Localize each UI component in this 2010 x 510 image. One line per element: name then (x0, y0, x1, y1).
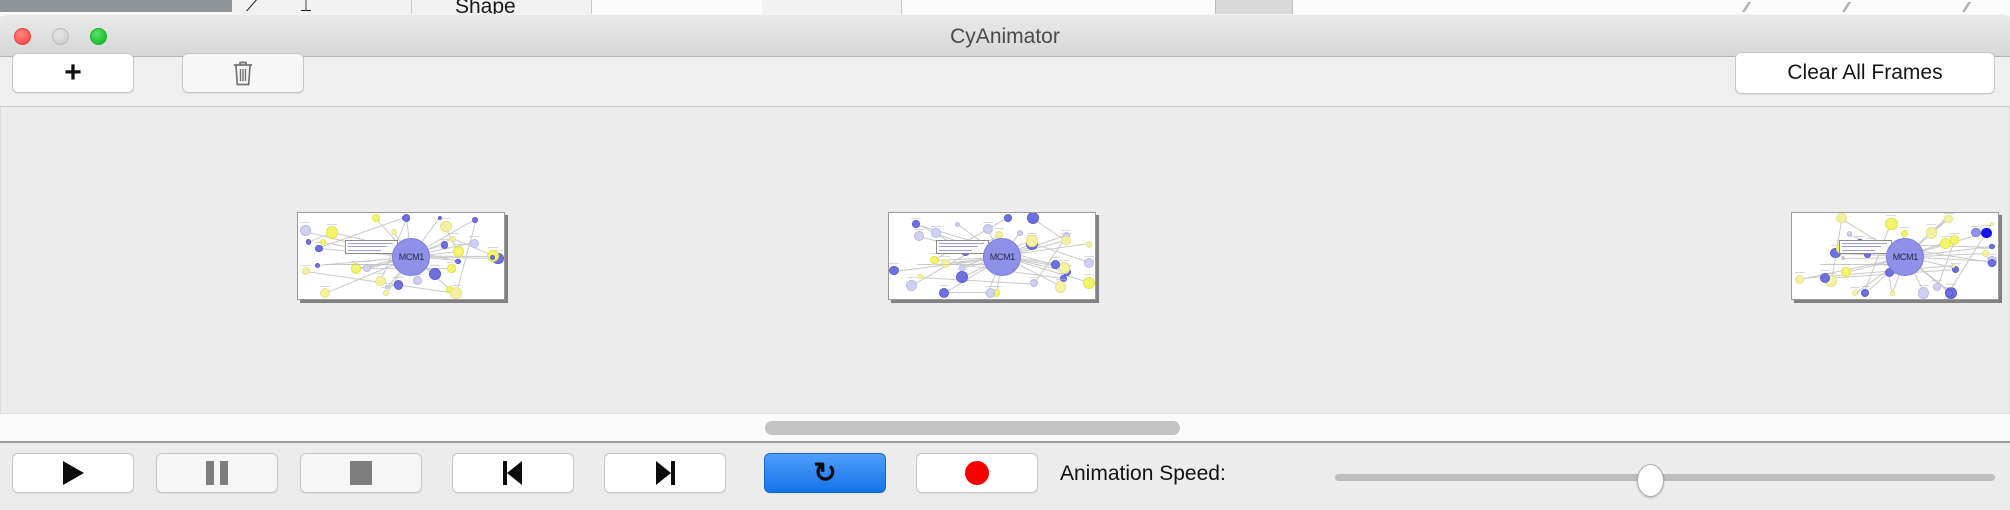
network-node (1061, 236, 1071, 246)
network-node-label (1971, 226, 1981, 227)
network-node-label (1981, 225, 1991, 226)
network-node-label (983, 222, 993, 223)
network-annotation-line (348, 250, 381, 251)
network-node (470, 239, 479, 248)
network-node (1945, 289, 1953, 297)
network-node (449, 236, 455, 242)
network-annotation-line (348, 246, 387, 247)
network-node (1017, 230, 1023, 236)
background-tick (1962, 2, 1980, 12)
network-annotation-line (1842, 250, 1875, 251)
network-node (472, 217, 478, 223)
network-node-label (1932, 280, 1942, 281)
next-frame-button[interactable] (604, 453, 726, 493)
network-node-label (1084, 256, 1094, 257)
network-node-label (301, 265, 311, 266)
network-hub-node: MCM1 (1886, 238, 1924, 276)
network-node-label (939, 285, 949, 286)
network-node (440, 221, 452, 233)
network-annotation-line (939, 250, 972, 251)
network-node-label (441, 218, 451, 219)
network-node (1971, 228, 1980, 237)
network-node-label (430, 265, 440, 266)
animation-speed-label: Animation Speed: (1060, 462, 1226, 486)
network-node-label (1027, 233, 1037, 234)
network-node (1852, 290, 1859, 297)
network-node (1027, 212, 1039, 224)
frame-thumbnail-canvas: MCM1 (1792, 213, 1998, 299)
network-node-label (362, 261, 372, 262)
network-node (1083, 277, 1095, 289)
network-node (413, 276, 422, 285)
network-node-label (986, 286, 996, 287)
network-node (1988, 259, 1996, 267)
network-node (375, 276, 386, 287)
pause-button[interactable] (156, 453, 278, 493)
network-node-label (907, 277, 917, 278)
network-node (906, 280, 917, 291)
network-caption (326, 264, 400, 265)
network-hub-node: MCM1 (392, 238, 430, 276)
network-node-label (1860, 286, 1870, 287)
animation-speed-slider-thumb[interactable] (1637, 464, 1664, 497)
network-node-label (393, 277, 403, 278)
network-node (956, 271, 968, 283)
network-node (320, 288, 330, 298)
cyanimator-window: ⟋ ⌶ Shape CyAnimator + Clear All Frames … (0, 0, 2010, 510)
network-node-label (1084, 274, 1094, 275)
stop-icon (350, 461, 372, 485)
frame-thumbnail[interactable]: MCM1 (1791, 212, 1999, 300)
network-node (1026, 235, 1038, 247)
frame-thumbnail-canvas: MCM1 (889, 213, 1095, 299)
network-node (1086, 241, 1092, 247)
network-node (889, 266, 898, 275)
network-node (914, 231, 924, 241)
network-node (1944, 215, 1952, 223)
network-node (315, 245, 323, 253)
delete-frame-button[interactable] (182, 53, 304, 93)
network-annotation-line (1842, 246, 1881, 247)
network-node-label (1944, 213, 1954, 214)
network-node-label (1855, 236, 1865, 237)
network-hub-node: MCM1 (983, 238, 1021, 276)
network-node (1901, 230, 1908, 237)
network-node (1055, 281, 1067, 293)
network-node (1836, 213, 1846, 223)
network-node-label (351, 261, 361, 262)
network-node-label (1850, 287, 1860, 288)
network-node-label (1941, 236, 1951, 237)
network-caption (1820, 264, 1894, 265)
network-node-label (1050, 257, 1060, 258)
network-node-label (375, 273, 385, 274)
network-node-label (1886, 215, 1896, 216)
network-node (1890, 290, 1895, 295)
background-window-dark-panel (0, 0, 232, 12)
network-node-label (1926, 224, 1936, 225)
network-node (447, 264, 456, 273)
play-button[interactable] (12, 453, 134, 493)
network-node (1795, 275, 1804, 284)
network-node-label (1058, 273, 1068, 274)
loop-button[interactable]: ↻ (764, 453, 886, 493)
network-node-label (1919, 285, 1929, 286)
network-node (363, 264, 371, 272)
network-node (300, 225, 312, 237)
prev-frame-button[interactable] (452, 453, 574, 493)
network-node (1051, 260, 1060, 269)
network-node (983, 224, 993, 234)
network-node-label (440, 239, 450, 240)
network-node (917, 274, 922, 279)
loop-icon: ↻ (813, 459, 836, 487)
network-node (1841, 256, 1845, 260)
network-node (931, 228, 940, 237)
background-tick (1742, 2, 1760, 12)
network-node-label (1795, 272, 1805, 273)
network-node (394, 280, 404, 290)
network-node (315, 263, 320, 268)
title-bar: CyAnimator (0, 14, 2010, 57)
network-node (1847, 231, 1852, 236)
network-edge (944, 292, 991, 293)
network-node-label (448, 233, 458, 234)
trash-icon (231, 59, 255, 87)
plus-icon: + (64, 58, 82, 88)
network-node-label (454, 244, 464, 245)
network-node (1981, 228, 1991, 238)
network-node (1030, 279, 1038, 287)
network-node (490, 255, 495, 260)
network-node (441, 241, 448, 248)
network-node-label (1987, 257, 1997, 258)
network-node (403, 214, 410, 221)
network-node (351, 263, 361, 273)
network-node (1933, 283, 1941, 291)
background-tick (1842, 2, 1860, 12)
network-node-label (889, 263, 899, 264)
network-node (1951, 264, 1955, 268)
add-frame-button[interactable]: + (12, 53, 134, 93)
horizontal-scrollbar[interactable] (0, 413, 2010, 443)
network-node (955, 222, 960, 227)
network-node-label (1059, 260, 1069, 261)
network-node-label (1056, 279, 1066, 280)
network-node (1004, 214, 1012, 222)
network-node (302, 267, 310, 275)
skip-back-icon (500, 461, 526, 485)
network-node (391, 229, 397, 235)
network-node (1940, 238, 1951, 249)
network-node (383, 290, 390, 297)
network-node-label (469, 236, 479, 237)
window-title: CyAnimator (0, 15, 2010, 58)
network-node (429, 268, 441, 280)
network-node-label (1061, 233, 1071, 234)
network-node (1084, 258, 1094, 268)
network-node (912, 220, 920, 228)
record-button[interactable] (916, 453, 1038, 493)
network-edge (920, 277, 1034, 285)
network-node-label (1061, 230, 1071, 231)
pause-icon (206, 461, 228, 485)
scrollbar-thumb[interactable] (765, 421, 1180, 435)
network-node-label (994, 228, 1004, 229)
network-node (1918, 287, 1930, 299)
network-node-label (327, 224, 337, 225)
frame-thumbnail[interactable]: MCM1 (888, 212, 1096, 300)
network-node-label (940, 256, 950, 257)
network-node-label (402, 212, 412, 213)
clear-all-frames-label: Clear All Frames (1787, 61, 1942, 85)
network-node-label (911, 218, 921, 219)
network-node (986, 288, 995, 297)
network-node (320, 239, 326, 245)
network-node-label (1820, 270, 1830, 271)
stop-button[interactable] (300, 453, 422, 493)
play-icon (63, 461, 84, 485)
clear-all-frames-button[interactable]: Clear All Frames (1735, 52, 1995, 94)
network-node (306, 239, 312, 245)
network-annotation-line (348, 243, 393, 244)
network-caption (917, 264, 991, 265)
network-annotation-line (939, 243, 984, 244)
network-node-label (1949, 233, 1959, 234)
network-node-label (451, 285, 461, 286)
frame-thumbnail[interactable]: MCM1 (297, 212, 505, 300)
animation-speed-slider[interactable] (1335, 474, 1995, 481)
timeline-panel[interactable]: MCM1MCM1MCM1 2131415161718 Seconds (0, 107, 2010, 413)
network-node-label (931, 226, 941, 227)
network-node (326, 226, 338, 238)
network-node-label (1899, 227, 1909, 228)
network-node-label (1029, 277, 1039, 278)
network-node-label (1866, 238, 1876, 239)
network-node-label (1003, 212, 1013, 213)
network-node-label (488, 247, 498, 248)
network-node (1885, 218, 1897, 230)
network-node (450, 287, 462, 299)
network-node (1861, 289, 1869, 297)
network-node-label (914, 229, 924, 230)
frame-thumbnail-canvas: MCM1 (298, 213, 504, 299)
network-node-label (300, 222, 310, 223)
network-node-label (320, 286, 330, 287)
network-node (939, 288, 949, 298)
record-icon (965, 461, 989, 485)
network-node-label (1946, 284, 1956, 285)
skip-fwd-icon (652, 461, 678, 485)
network-node (1926, 227, 1938, 239)
network-node-label (1944, 287, 1954, 288)
network-annotation-line (1842, 243, 1887, 244)
network-annotation-line (939, 246, 978, 247)
network-node-label (447, 262, 457, 263)
playback-bar: ↻ Animation Speed: (0, 445, 2010, 510)
network-node-label (1981, 248, 1991, 249)
